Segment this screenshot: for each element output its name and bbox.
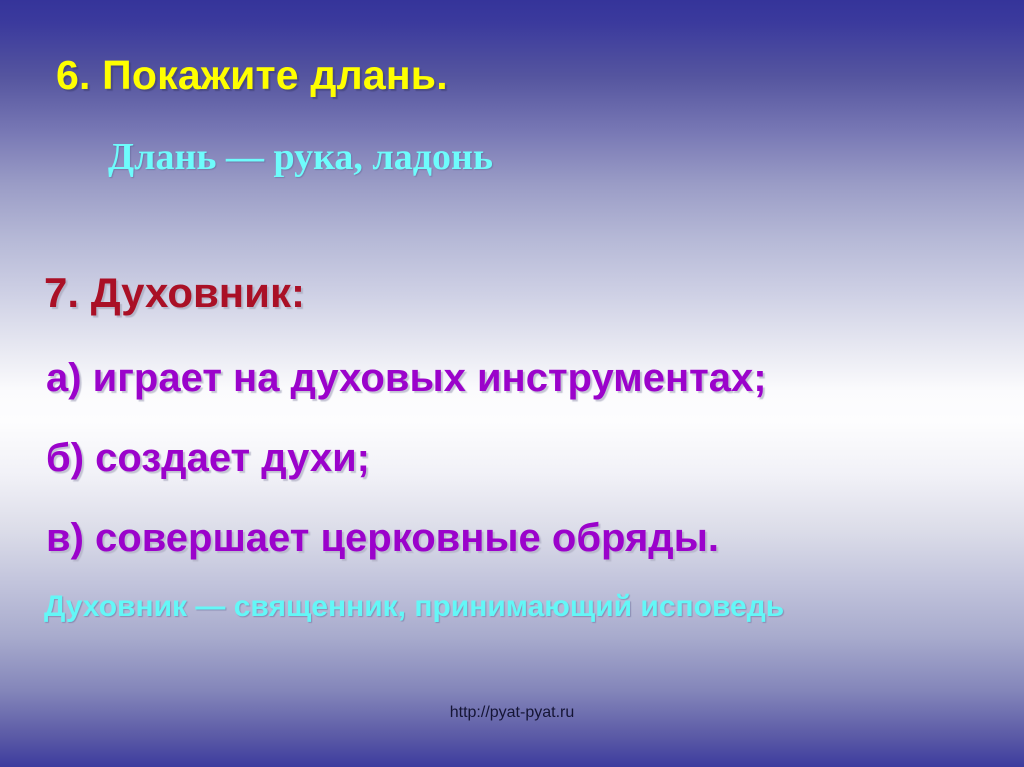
footer-source-url: http://pyat-pyat.ru: [0, 705, 1024, 721]
slide-question-7-duhovnik: 7. Духовник:: [44, 272, 305, 314]
slide-answer-option-a: а) играет на духовых инструментах;: [46, 358, 767, 398]
slide-heading-question-6: 6. Покажите длань.: [56, 55, 448, 96]
slide-answer-option-c: в) совершает церковные обряды.: [46, 518, 719, 558]
slide-definition-dlan: Длань — рука, ладонь: [108, 138, 493, 176]
slide-definition-duhovnik: Духовник — священник, принимающий испове…: [44, 592, 784, 622]
slide-answer-option-b: б) создает духи;: [46, 438, 370, 478]
presentation-slide: 6. Покажите длань. Длань — рука, ладонь …: [0, 0, 1024, 767]
